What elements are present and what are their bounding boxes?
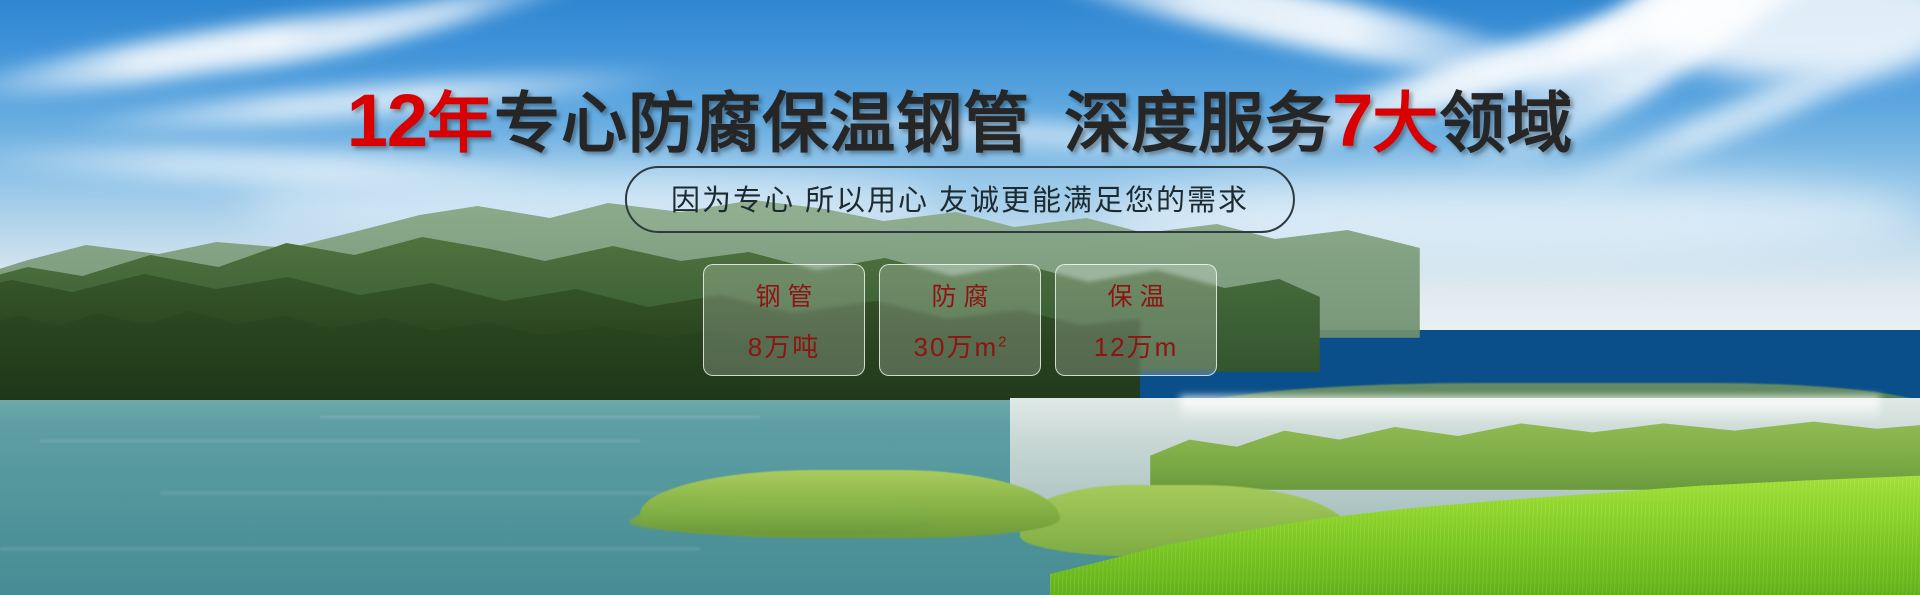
stat-card-title: 防腐 (924, 277, 995, 313)
headline-years-number: 12 (347, 79, 427, 162)
headline-service-phrase: 深度服务 (1064, 86, 1332, 160)
banner-headline: 12年专心防腐保温钢管深度服务7大领域 (0, 84, 1920, 158)
water-ripple (320, 416, 760, 418)
stat-value-text: 8万吨 (748, 332, 820, 362)
water-ripple (0, 548, 700, 550)
stat-card-value: 8万吨 (748, 327, 820, 364)
water-sheen (1180, 396, 1880, 422)
stat-card-title: 钢管 (748, 277, 819, 313)
stat-card-anticorrosion[interactable]: 防腐 30万m2 (879, 264, 1041, 376)
stat-value-text: 30万m (914, 332, 999, 362)
stat-card-title: 保温 (1100, 277, 1171, 313)
headline-fields-suffix: 领域 (1439, 86, 1573, 160)
water-ripple (160, 492, 680, 494)
water-ripple (40, 440, 640, 442)
hero-banner: 12年专心防腐保温钢管深度服务7大领域 因为专心 所以用心 友诚更能满足您的需求… (0, 0, 1920, 595)
subtitle-pill: 因为专心 所以用心 友诚更能满足您的需求 (625, 166, 1295, 233)
headline-years-unit: 年 (427, 86, 494, 160)
stat-card-insulation[interactable]: 保温 12万m (1055, 264, 1217, 376)
stat-card-steel-pipe[interactable]: 钢管 8万吨 (703, 264, 865, 376)
headline-main-phrase: 专心防腐保温钢管 (494, 86, 1030, 160)
stat-value-superscript: 2 (998, 333, 1006, 350)
headline-fields-unit: 大 (1372, 86, 1439, 160)
stat-value-text: 12万m (1094, 332, 1179, 362)
headline-fields-number: 7 (1332, 79, 1372, 162)
stat-card-value: 30万m2 (914, 327, 1007, 364)
stat-card-group: 钢管 8万吨 防腐 30万m2 保温 12万m (703, 264, 1217, 376)
stat-card-value: 12万m (1094, 327, 1179, 364)
